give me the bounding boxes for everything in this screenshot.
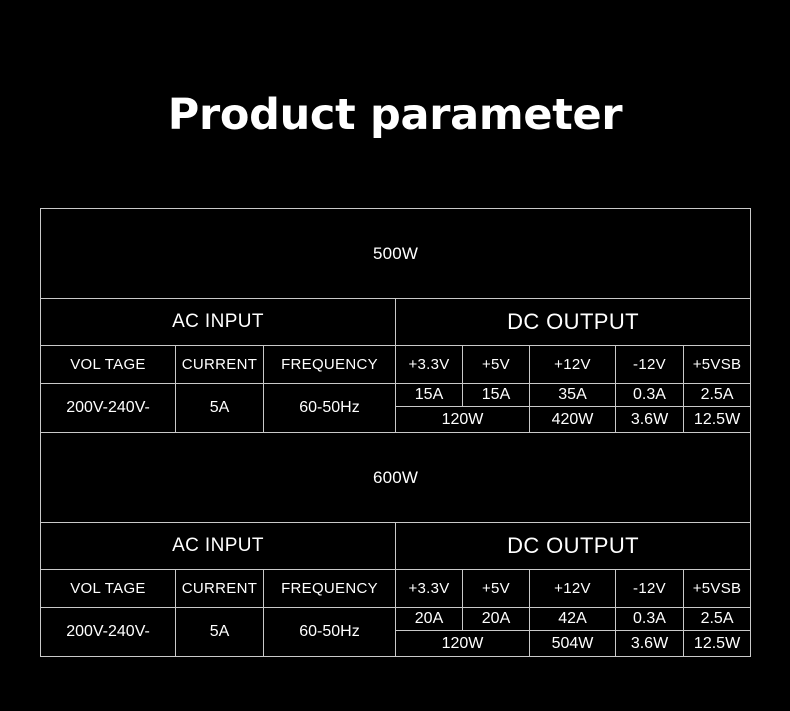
- dc-rail-label-1-1: +5V: [463, 346, 530, 384]
- dc-rail-label-1-4: +5VSB: [684, 346, 751, 384]
- ac-column-voltage-2: VOL TAGE: [41, 570, 176, 608]
- dc-power-1-0: 120W: [396, 407, 530, 433]
- ac-value-current-2: 5A: [176, 608, 264, 657]
- dc-rail-label-2-0: +3.3V: [396, 570, 463, 608]
- wattage-banner-600w: 600W: [41, 433, 751, 523]
- table-row: VOL TAGE CURRENT FREQUENCY +3.3V +5V +12…: [41, 346, 751, 384]
- dc-current-2-1: 20A: [463, 608, 530, 631]
- table-row: 200V-240V- 5A 60-50Hz 20A 20A 42A 0.3A 2…: [41, 608, 751, 631]
- ac-value-voltage-1: 200V-240V-: [41, 384, 176, 433]
- table-row: AC INPUT DC OUTPUT: [41, 523, 751, 570]
- dc-current-1-0: 15A: [396, 384, 463, 407]
- ac-value-frequency-2: 60-50Hz: [264, 608, 396, 657]
- ac-column-frequency-1: FREQUENCY: [264, 346, 396, 384]
- dc-current-1-4: 2.5A: [684, 384, 751, 407]
- page-title: Product parameter: [0, 92, 790, 139]
- ac-value-current-1: 5A: [176, 384, 264, 433]
- wattage-banner-500w: 500W: [41, 209, 751, 299]
- dc-current-1-1: 15A: [463, 384, 530, 407]
- specification-table: 500W AC INPUT DC OUTPUT VOL TAGE CURRENT…: [40, 208, 751, 657]
- dc-output-header-1: DC OUTPUT: [396, 299, 751, 346]
- table-row: 500W: [41, 209, 751, 299]
- dc-rail-label-2-2: +12V: [530, 570, 616, 608]
- dc-rail-label-1-3: -12V: [616, 346, 684, 384]
- dc-power-2-2: 3.6W: [616, 631, 684, 657]
- dc-current-2-3: 0.3A: [616, 608, 684, 631]
- dc-output-header-2: DC OUTPUT: [396, 523, 751, 570]
- ac-input-header-1: AC INPUT: [41, 299, 396, 346]
- dc-power-2-3: 12.5W: [684, 631, 751, 657]
- product-parameter-page: Product parameter 500W AC INPUT DC OUTPU…: [0, 0, 790, 711]
- table-row: 600W: [41, 433, 751, 523]
- dc-current-1-3: 0.3A: [616, 384, 684, 407]
- dc-power-1-2: 3.6W: [616, 407, 684, 433]
- table-row: VOL TAGE CURRENT FREQUENCY +3.3V +5V +12…: [41, 570, 751, 608]
- dc-power-1-1: 420W: [530, 407, 616, 433]
- dc-current-2-0: 20A: [396, 608, 463, 631]
- dc-rail-label-1-0: +3.3V: [396, 346, 463, 384]
- dc-current-2-2: 42A: [530, 608, 616, 631]
- table-row: AC INPUT DC OUTPUT: [41, 299, 751, 346]
- ac-input-header-2: AC INPUT: [41, 523, 396, 570]
- dc-rail-label-2-1: +5V: [463, 570, 530, 608]
- dc-power-2-1: 504W: [530, 631, 616, 657]
- ac-column-current-2: CURRENT: [176, 570, 264, 608]
- ac-value-voltage-2: 200V-240V-: [41, 608, 176, 657]
- ac-column-current-1: CURRENT: [176, 346, 264, 384]
- ac-value-frequency-1: 60-50Hz: [264, 384, 396, 433]
- ac-column-frequency-2: FREQUENCY: [264, 570, 396, 608]
- dc-current-1-2: 35A: [530, 384, 616, 407]
- table-row: 200V-240V- 5A 60-50Hz 15A 15A 35A 0.3A 2…: [41, 384, 751, 407]
- dc-rail-label-1-2: +12V: [530, 346, 616, 384]
- dc-power-1-3: 12.5W: [684, 407, 751, 433]
- ac-column-voltage-1: VOL TAGE: [41, 346, 176, 384]
- dc-power-2-0: 120W: [396, 631, 530, 657]
- dc-rail-label-2-4: +5VSB: [684, 570, 751, 608]
- dc-current-2-4: 2.5A: [684, 608, 751, 631]
- dc-rail-label-2-3: -12V: [616, 570, 684, 608]
